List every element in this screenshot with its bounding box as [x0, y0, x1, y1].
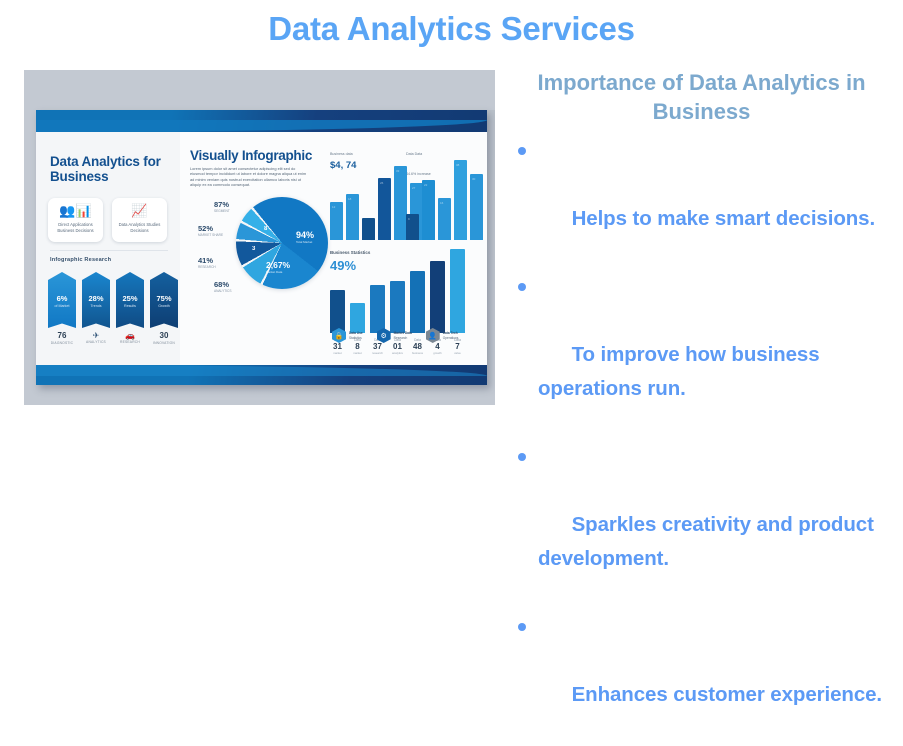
badge-text: Data Tech Operations [443, 331, 459, 340]
bar [362, 218, 375, 240]
plane-icon: ✈ [82, 331, 110, 340]
pill-value: 28% [82, 294, 110, 303]
bar: 16 [438, 198, 451, 240]
pill-value: 6% [48, 294, 76, 303]
shield-lock-icon: 🔒 [332, 328, 346, 343]
bar: 26 [378, 178, 391, 240]
axis-sub: value [450, 351, 465, 355]
pill-value: 25% [116, 294, 144, 303]
axis-sub: market [330, 351, 345, 355]
axis-value: 37 [370, 342, 385, 351]
bar: 9 [406, 214, 419, 240]
pill-column: 6% of Market 76 DIAGNOSTIC [48, 272, 76, 345]
pie-label-inner: 2,67% Market Data [266, 260, 290, 274]
pill-label: DIAGNOSTIC [48, 341, 76, 345]
infographic-canvas: Data Analytics for Business 👥📊 Direct Ap… [36, 110, 487, 385]
top-bar-charts: Business data $4, 74 Data Data 44.6% inc… [328, 148, 478, 240]
pill-bar: 25% Results [116, 272, 144, 328]
bar [390, 281, 405, 333]
pill-footer: ✈ ANALYTICS [82, 331, 110, 344]
chart-caption: Data Data [406, 152, 422, 156]
pill-label: RESEARCH [116, 340, 144, 344]
pie-label-outer: 41% RESEARCH [198, 256, 216, 269]
infographic-header-bar [36, 110, 487, 132]
divider [50, 250, 168, 251]
bar [450, 249, 465, 333]
bar: 30 [470, 174, 483, 240]
infographic-left-title: Data Analytics for Business [50, 154, 172, 184]
pill-label: INNOVATION [150, 341, 178, 345]
badge: 👤 Data Tech Operations [426, 328, 459, 343]
axis-value: 31 [330, 342, 345, 351]
bullet-dot-icon [518, 453, 526, 461]
infographic-right-title: Visually Infographic [190, 148, 312, 163]
pie-label-outer: 87% SEGMENT [214, 200, 230, 213]
bar [430, 261, 445, 333]
infographic-mini-cards: 👥📊 Direct Applications Business Decision… [48, 198, 167, 242]
axis-sub: research [370, 351, 385, 355]
list-item-label: Sparkles creativity and product developm… [538, 513, 885, 570]
pill-column: 75% Growth 30 INNOVATION [150, 272, 178, 345]
bar [330, 290, 345, 333]
pill-label: ANALYTICS [82, 340, 110, 344]
infographic-image: Data Analytics for Business 👥📊 Direct Ap… [24, 70, 495, 405]
mini-card: 👥📊 Direct Applications Business Decision… [48, 198, 103, 242]
badge-text: Market Data Research [394, 331, 412, 340]
list-item: Helps to make smart decisions. [505, 134, 898, 270]
pill-footer: 30 INNOVATION [150, 331, 178, 345]
infographic-right-column: Visually Infographic Lorem ipsum dolor s… [180, 132, 487, 365]
list-item: To improve how business operations run. [505, 270, 898, 440]
pill-sub: Results [116, 304, 144, 309]
pie-chart: 87% SEGMENT 52% MARKET SHARE 41% RESEARC… [206, 194, 326, 299]
bar-group: 9 22 16 38 30 [406, 160, 483, 240]
bullet-dot-icon [518, 283, 526, 291]
infographic-pill-bars: 6% of Market 76 DIAGNOSTIC 28% Trends ✈ [48, 272, 178, 345]
pill-bar: 28% Trends [82, 272, 110, 328]
badge-text: Data Use Statistics [349, 331, 363, 340]
pill-footer: 🚗 RESEARCH [116, 331, 144, 344]
bar-chart-icon: 📈 [112, 204, 167, 217]
bar [410, 271, 425, 333]
list-item-label: Helps to make smart decisions. [572, 207, 875, 230]
pill-bar: 75% Growth [150, 272, 178, 328]
pill-bar: 6% of Market [48, 272, 76, 328]
infographic-section-label: Infographic Research [50, 257, 111, 263]
axis-value: 8 [350, 342, 365, 351]
shield-person-icon: 👤 [426, 328, 440, 343]
axis-sub: growth [430, 351, 445, 355]
axis-sub: market [350, 351, 365, 355]
pill-footer: 76 DIAGNOSTIC [48, 331, 76, 345]
list-item: Enhances customer experience. [505, 610, 898, 746]
axis-value: 4 [430, 342, 445, 351]
pill-value: 75% [150, 294, 178, 303]
badge: ⚙ Market Data Research [377, 328, 412, 343]
axis-value: 48 [410, 342, 425, 351]
bar-group [330, 249, 465, 333]
list-item-label: To improve how business operations run. [538, 343, 825, 400]
mini-card-caption: Direct Applications Business Decisions [52, 222, 99, 233]
pie-label-outer: 52% MARKET SHARE [198, 224, 223, 237]
pill-column: 25% Results 🚗 RESEARCH [116, 272, 144, 345]
bullet-list: Helps to make smart decisions. To improv… [505, 134, 898, 746]
infographic-badges: 🔒 Data Use Statistics ⚙ Market Data Rese… [332, 328, 458, 343]
pill-sub: Growth [150, 304, 178, 309]
shield-network-icon: ⚙ [377, 328, 391, 343]
list-item-label: Enhances customer experience. [572, 683, 882, 706]
pill-column: 28% Trends ✈ ANALYTICS [82, 272, 110, 345]
bar: 22 [422, 180, 435, 240]
pie-label-inner: 8 [264, 226, 267, 232]
pie-label-inner: 94% Total Market [296, 230, 314, 244]
infographic-body-text: Lorem ipsum dolor sit amet consectetur a… [190, 166, 308, 188]
axis-sub: business [410, 351, 425, 355]
bar [370, 285, 385, 333]
axis-value: 01 [390, 342, 405, 351]
pie-chart-graphic [236, 197, 328, 289]
infographic-left-column: Data Analytics for Business 👥📊 Direct Ap… [36, 132, 181, 365]
people-chart-icon: 👥📊 [48, 204, 103, 217]
bullet-dot-icon [518, 147, 526, 155]
mini-card-caption: Data Analytics Studies Decisions [116, 222, 163, 233]
pie-label-inner: 3 [252, 246, 255, 252]
infographic-footer-bar [36, 365, 487, 385]
bar: 12 [330, 202, 343, 240]
list-item: Sparkles creativity and product developm… [505, 440, 898, 610]
axis-sub: analytics [390, 351, 405, 355]
content-panel: Importance of Data Analytics in Business… [505, 68, 898, 746]
mini-card: 📈 Data Analytics Studies Decisions [112, 198, 167, 242]
pill-number: 76 [48, 331, 76, 341]
pill-sub: of Market [48, 304, 76, 309]
badge: 🔒 Data Use Statistics [332, 328, 363, 343]
panel-heading: Importance of Data Analytics in Business [513, 68, 890, 126]
bar: 18 [346, 194, 359, 240]
bullet-dot-icon [518, 623, 526, 631]
axis-value: 7 [450, 342, 465, 351]
chart-caption: Business data [330, 152, 353, 156]
pill-number: 30 [150, 331, 178, 341]
pie-label-outer: 68% ANALYTICS [214, 280, 231, 293]
car-icon: 🚗 [116, 331, 144, 340]
page-title: Data Analytics Services [0, 10, 903, 48]
pill-sub: Trends [82, 304, 110, 309]
bar: 38 [454, 160, 467, 240]
